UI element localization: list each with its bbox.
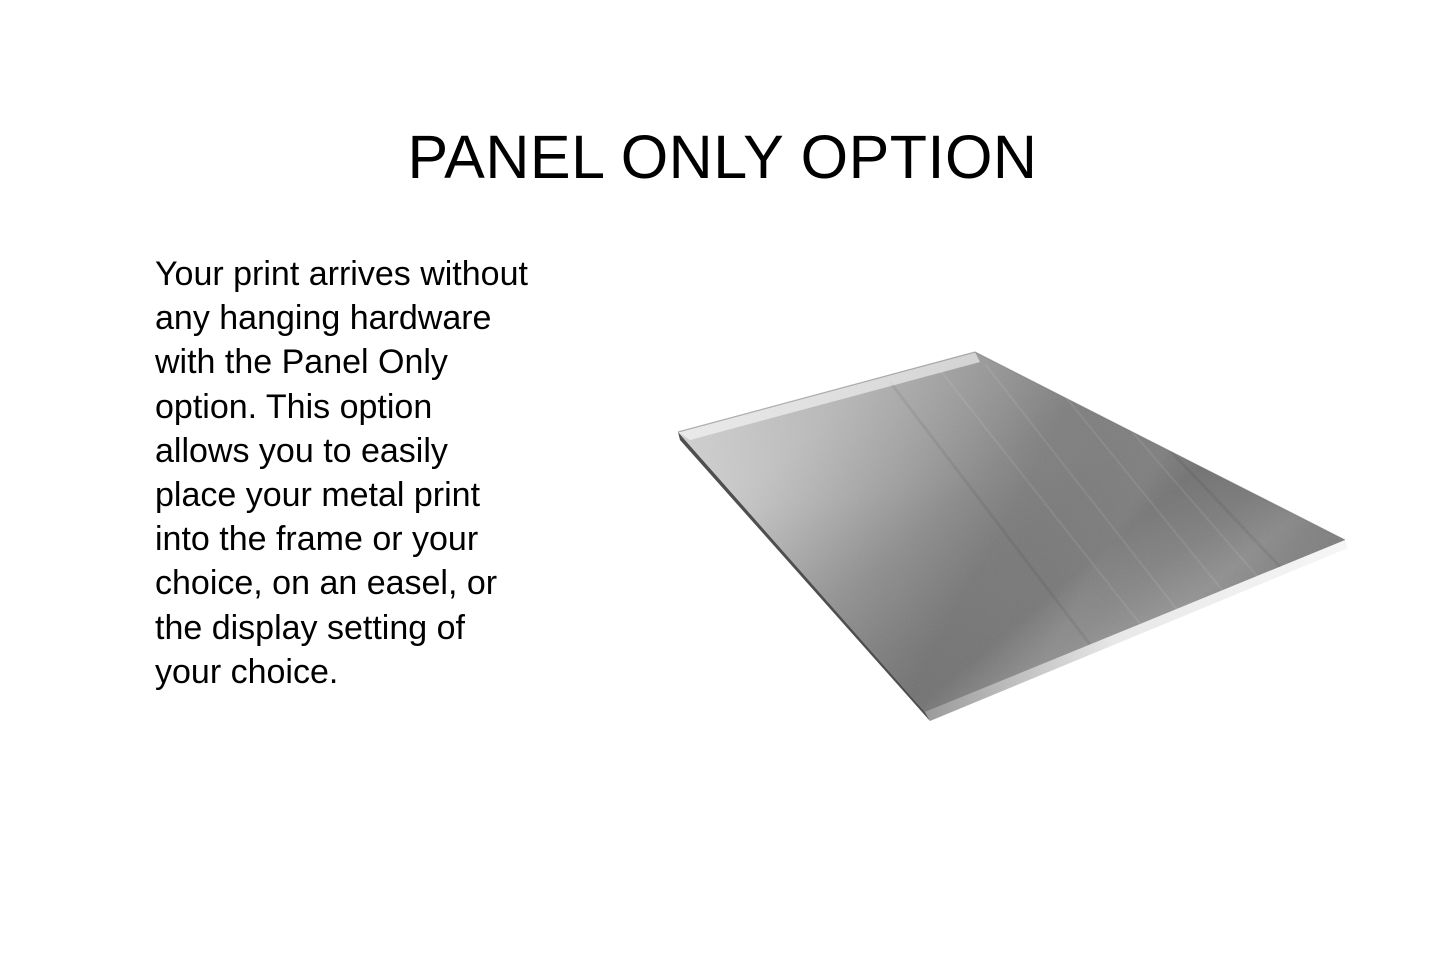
body-line: the display setting of — [155, 606, 585, 650]
body-line: your choice. — [155, 650, 585, 694]
body-line: any hanging hardware — [155, 296, 585, 340]
body-line: option. This option — [155, 385, 585, 429]
body-line: choice, on an easel, or — [155, 561, 585, 605]
metal-panel-image — [640, 330, 1370, 730]
body-line: into the frame or your — [155, 517, 585, 561]
body-line: place your metal print — [155, 473, 585, 517]
metal-panel-illustration — [640, 330, 1370, 730]
page-title: PANEL ONLY OPTION — [0, 121, 1445, 193]
body-line: Your print arrives without — [155, 252, 585, 296]
panel-shading — [640, 330, 1370, 730]
body-line: with the Panel Only — [155, 340, 585, 384]
body-paragraph: Your print arrives without any hanging h… — [155, 252, 585, 694]
body-line: allows you to easily — [155, 429, 585, 473]
presentation-slide: PANEL ONLY OPTION Your print arrives wit… — [0, 0, 1445, 963]
